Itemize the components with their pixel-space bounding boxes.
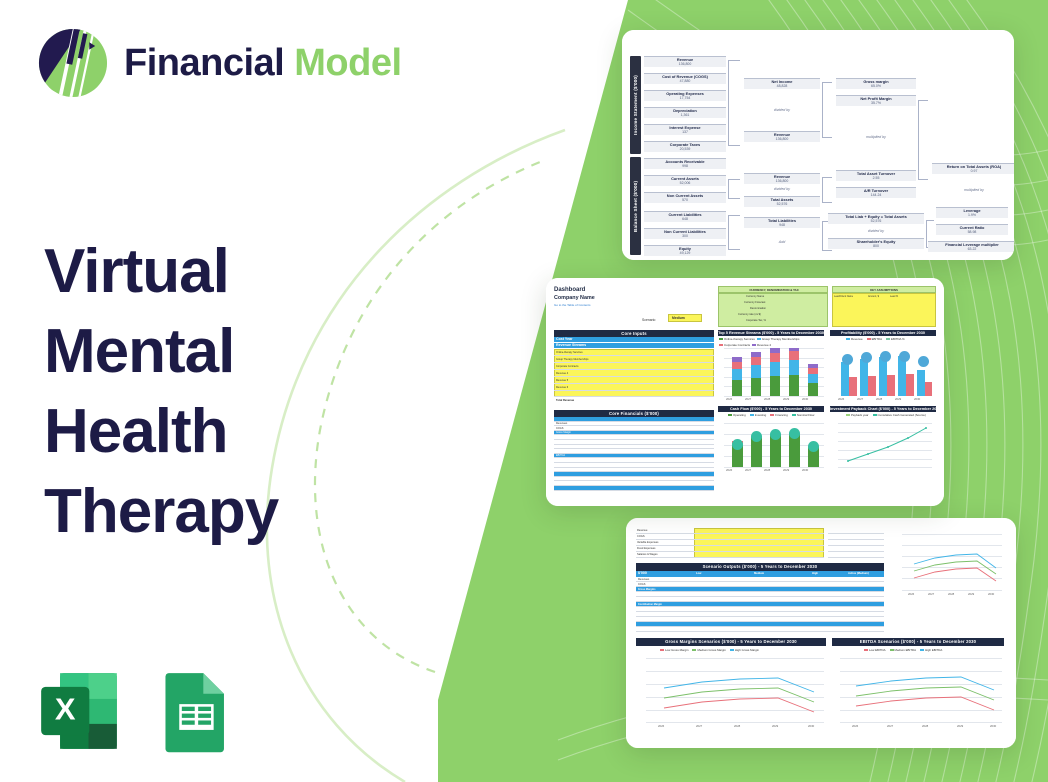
scenario-outputs-title: Scenario Outputs ($'000) - 5 Years to De… — [636, 563, 884, 571]
so-row-revenues: Revenues — [638, 578, 649, 581]
operator-divided-by-2: divided by — [744, 187, 820, 191]
top-row-salaries: Salaries & Wages — [637, 553, 658, 556]
node-net-profit-margin: Net Profit Margin 35.7% — [836, 95, 916, 106]
rev-x-2028: 2028 — [764, 397, 770, 401]
panel-currency-title: CURRENCY, DENOMINATION & TAX — [722, 288, 826, 292]
panel-assumptions-title: KEY ASSUMPTIONS — [836, 288, 932, 292]
rs-x-2029: 2029 — [968, 592, 974, 596]
core-financials-title: Core Financials ($'000) — [554, 410, 714, 417]
prof-x-2026: 2026 — [838, 397, 844, 401]
revenue-row-2: Group Therapy Memberships — [556, 358, 588, 361]
node-non-current-assets: Non Current Assets 570 — [644, 192, 726, 203]
node-interest-expense: Interest Expense 137 — [644, 124, 726, 135]
assumption-col-2: Amount, $ — [868, 295, 879, 298]
node-roa: Return on Total Assets (ROA) 0.97 — [932, 163, 1014, 174]
gm-x-2029: 2029 — [772, 724, 778, 728]
scenario-selected-value: Medium — [672, 316, 685, 320]
cf-row-gross-margin: Gross Margin — [556, 431, 571, 434]
gm-legend-low: Low Gross Margin — [665, 648, 688, 652]
headline-line-3: Health — [44, 392, 278, 472]
headline-line-1: Virtual — [44, 232, 278, 312]
brand-lockup: Financial Model — [36, 26, 402, 100]
operator-multiplied-by-2: multiplied by — [932, 188, 1014, 192]
gm-x-2027: 2027 — [696, 724, 702, 728]
scenario-analysis-card[interactable]: Revenue COGS Variable Expenses Fixed Exp… — [626, 518, 1016, 748]
profitability-legend: Revenue EBITDA EBITDA % — [846, 337, 905, 341]
rs-x-2030: 2030 — [988, 592, 994, 596]
circle-bar-chart-logo-icon — [36, 26, 110, 100]
node-total-liabilities: Total Liabilities 948 — [744, 217, 820, 228]
gross-margin-lines — [646, 658, 824, 722]
total-revenue-row: Total Revenue — [556, 399, 574, 402]
legend-ebitda-pct: EBITDA % — [891, 337, 905, 341]
top-revenue-streams-plot — [724, 348, 824, 396]
google-sheets-icon — [150, 668, 236, 754]
top-row-fixed: Fixed Expenses — [637, 547, 655, 550]
dashboard-title: Dashboard — [554, 287, 585, 293]
rev-x-2030: 2030 — [802, 397, 808, 401]
dashboard-card[interactable]: Dashboard Company Name Go to the Table o… — [546, 278, 944, 506]
legend-ebitda: EBITDA — [872, 337, 882, 341]
scenario-col-medium: Medium — [754, 572, 764, 575]
promo-left-panel: Financial Model Virtual Mental Health Th… — [0, 0, 470, 782]
cf-row-revenues: Revenues — [556, 422, 567, 425]
legend-item-1: Group Therapy Memberships — [762, 337, 800, 341]
cf-row-ebitda: EBITDA — [556, 454, 565, 457]
eb-x-2030: 2030 — [990, 724, 996, 728]
node-shareholders-equity: Shareholder's Equity 800 — [828, 238, 924, 249]
node-cogs: Cost of Revenue (COGS) 47,880 — [644, 73, 726, 84]
rs-x-2026: 2026 — [908, 592, 914, 596]
node-accounts-receivable: Accounts Receivable 998 — [644, 158, 726, 169]
node-financial-leverage-multiplier: Financial Leverage multiplier 63.22 — [928, 241, 1014, 252]
ebitda-scenarios-title: EBITDA Scenarios ($'000) - 5 Years to De… — [832, 638, 1004, 646]
profitability-plot — [836, 348, 934, 396]
investment-payback-plot — [838, 423, 932, 467]
currency-field-3: Denomination — [750, 307, 766, 310]
so-row-contribution-margin: Contribution Margin — [638, 603, 662, 606]
cf-x-2026: 2026 — [726, 468, 732, 472]
cf-x-2029: 2029 — [783, 468, 789, 472]
node-revenue-turnover: Revenue 136,800 — [744, 173, 820, 184]
tier-label-balance-sheet: Balance Sheet ($'000) — [630, 157, 641, 255]
revenue-scenario-lines — [902, 534, 1002, 590]
prof-x-2027: 2027 — [857, 397, 863, 401]
gross-margin-legend: Low Gross Margin Medium Gross Margin Hig… — [660, 648, 759, 652]
eb-legend-medium: Medium EBITDA — [895, 648, 917, 652]
legend-investing: Investing — [755, 413, 767, 417]
operator-divided-by-1: divided by — [744, 108, 820, 112]
eb-legend-high: High EBITDA — [925, 648, 942, 652]
scenario-active-col — [828, 528, 884, 558]
scenario-sheet: Revenue COGS Variable Expenses Fixed Exp… — [626, 518, 1016, 748]
microsoft-excel-icon: X — [36, 668, 122, 754]
eb-x-2029: 2029 — [957, 724, 963, 728]
brand-word-financial: Financial — [124, 42, 284, 84]
tier-label-income-statement: Income Statement ($'000) — [630, 56, 641, 154]
file-format-icons: X — [36, 668, 236, 754]
node-gross-margin: Gross margin 65.0% — [836, 78, 916, 89]
gm-legend-high: High Gross Margin — [735, 648, 759, 652]
so-row-ebitda: EBITDA — [638, 628, 647, 631]
top-revenue-streams-legend: Online-therapy Services Group Therapy Me… — [719, 337, 825, 347]
gross-margin-scenarios-title: Gross Margins Scenarios ($'000) - 5 Year… — [636, 638, 826, 646]
node-equity: Equity 49,129 — [644, 245, 726, 256]
core-inputs-header: Cost Year — [554, 337, 714, 342]
core-inputs-title: Core Inputs — [554, 330, 714, 337]
legend-payback-year: Payback year — [851, 413, 869, 417]
gm-legend-medium: Medium Gross Margin — [697, 648, 725, 652]
prof-x-2029: 2029 — [895, 397, 901, 401]
operator-multiplied-by-1: multiplied by — [836, 135, 916, 139]
assumption-col-1: Lead/Client Name — [834, 295, 853, 298]
node-net-income: Net Income 48,828 — [744, 78, 820, 89]
node-current-liabilities: Current Liabilities 648 — [644, 211, 726, 222]
revenue-streams-header: Revenue Streams — [554, 343, 714, 348]
node-non-current-liabilities: Non Current Liabilities 300 — [644, 228, 726, 239]
core-financials-rows — [554, 417, 714, 491]
rev-x-2026: 2026 — [726, 397, 732, 401]
rev-x-2027: 2027 — [745, 397, 751, 401]
revenue-row-4: Revenue 4 — [556, 372, 568, 375]
prof-x-2028: 2028 — [876, 397, 882, 401]
currency-field-2: Currency Forecast — [744, 301, 765, 304]
node-current-ratio: Current Ratio 58.98 — [936, 224, 1008, 235]
legend-cumulative-cash: Cumulative Cash Generated (Source) — [878, 413, 926, 417]
investment-payback-legend: Payback year Cumulative Cash Generated (… — [846, 413, 926, 417]
cf-x-2028: 2028 — [764, 468, 770, 472]
rev-x-2029: 2029 — [783, 397, 789, 401]
dupont-driver-tree-card[interactable]: Income Statement ($'000) Balance Sheet (… — [622, 30, 1014, 260]
driver-tree-sheet: Income Statement ($'000) Balance Sheet (… — [622, 30, 1014, 260]
revenue-row-3: Corporate Contracts — [556, 365, 579, 368]
brand-word-model: Model — [294, 42, 401, 84]
headline-line-4: Therapy — [44, 472, 278, 552]
revenue-rows — [554, 349, 714, 397]
top-row-cogs: COGS — [637, 535, 645, 538]
node-ar-turnover: A/R Turnover 144.24 — [836, 187, 916, 198]
legend-item-2: Corporate Contracts — [724, 343, 750, 347]
profitability-chart-title: Profitability ($'000) - 5 Years to Decem… — [830, 330, 936, 336]
cf-x-2030: 2030 — [802, 468, 808, 472]
cash-flow-legend: Operating Investing Financing Nominal Fl… — [728, 413, 814, 417]
panel-currency-body — [718, 293, 828, 327]
gm-x-2026: 2026 — [658, 724, 664, 728]
dashboard-sheet: Dashboard Company Name Go to the Table o… — [546, 278, 944, 506]
legend-revenue: Revenue — [851, 337, 863, 341]
top-row-variable: Variable Expenses — [637, 541, 658, 544]
prof-x-2030: 2030 — [914, 397, 920, 401]
headline-line-2: Mental — [44, 312, 278, 392]
scenario-top-rows — [636, 528, 824, 558]
payback-line — [838, 423, 932, 467]
scenario-output-rows — [636, 577, 884, 632]
cf-x-2027: 2027 — [745, 468, 751, 472]
dashboard-toc-link[interactable]: Go to the Table of Contents — [554, 303, 590, 307]
currency-field-1: Currency Name — [746, 295, 764, 298]
top-revenue-streams-chart-title: Top 5 Revenue Streams ($'000) - 5 Years … — [718, 330, 824, 336]
dashboard-company-name: Company Name — [554, 295, 595, 301]
cash-flow-plot — [724, 423, 824, 467]
revenue-row-5: Revenue 5 — [556, 379, 568, 382]
operator-divided-by-3: divided by — [828, 229, 924, 233]
legend-financing: Financing — [775, 413, 788, 417]
assumption-col-3: Lead % — [890, 295, 898, 298]
operator-add: Add — [744, 240, 820, 244]
eb-legend-low: Low EBITDA — [869, 648, 886, 652]
node-total-liab-equity: Total Liab + Equity = Total Assets 52,57… — [828, 213, 924, 224]
scenario-col-high: High — [812, 572, 818, 575]
eb-x-2027: 2027 — [887, 724, 893, 728]
node-corporate-taxes: Corporate Taxes 20,539 — [644, 141, 726, 152]
brand-wordmark: Financial Model — [124, 42, 402, 85]
node-total-assets: Total Assets 52,576 — [744, 196, 820, 207]
cf-row-cogs: COGS — [556, 427, 563, 430]
page-title: Virtual Mental Health Therapy — [44, 232, 278, 552]
so-row-gross-margins: Gross Margins — [638, 588, 656, 591]
rs-x-2027: 2027 — [928, 592, 934, 596]
currency-field-5: Corporate Tax, % — [746, 319, 766, 322]
gm-x-2028: 2028 — [734, 724, 740, 728]
eb-x-2026: 2026 — [852, 724, 858, 728]
ebitda-legend: Low EBITDA Medium EBITDA High EBITDA — [864, 648, 942, 652]
node-current-assets: Current Assets 52,006 — [644, 175, 726, 186]
node-total-asset-turnover: Total Asset Turnover 2.55 — [836, 170, 916, 181]
panel-assumptions-body[interactable] — [832, 293, 936, 327]
cash-flow-chart-title: Cash Flow ($'000) - 5 Years to December … — [718, 406, 824, 412]
top-row-revenue: Revenue — [637, 529, 647, 532]
node-revenue-denominator: Revenue 136,800 — [744, 131, 820, 142]
investment-payback-chart-title: Investment Payback Chart ($'000) - 5 Yea… — [830, 406, 936, 412]
node-revenue: Revenue 136,800 — [644, 56, 726, 67]
scenario-col-low: Low — [696, 572, 701, 575]
node-leverage: Leverage 1.9% — [936, 207, 1008, 218]
node-operating-expenses: Operating Expenses 17,754 — [644, 90, 726, 101]
eb-x-2028: 2028 — [922, 724, 928, 728]
legend-nominal-flow: Nominal Flow — [797, 413, 815, 417]
ebitda-lines — [840, 658, 1002, 722]
revenue-row-6: Revenue 6 — [556, 386, 568, 389]
currency-field-4: Currency rate (vs $) — [738, 313, 761, 316]
rs-x-2028: 2028 — [948, 592, 954, 596]
so-row-cogs: COGS — [638, 583, 645, 586]
legend-item-0: Online-therapy Services — [724, 337, 755, 341]
ebitda-scenarios-plot — [840, 658, 1002, 722]
gm-x-2030: 2030 — [808, 724, 814, 728]
scenario-col-active: Active (Medium) — [848, 572, 869, 575]
gross-margin-scenarios-plot — [646, 658, 824, 722]
svg-text:X: X — [55, 692, 76, 727]
revenue-row-1: Online-therapy Services — [556, 351, 583, 354]
legend-operating: Operating — [733, 413, 746, 417]
node-depreciation: Depreciation 1,361 — [644, 107, 726, 118]
scenario-label: Scenario — [642, 318, 655, 322]
revenue-scenarios-plot — [902, 534, 1002, 590]
legend-item-3: Revenue 4 — [757, 343, 771, 347]
